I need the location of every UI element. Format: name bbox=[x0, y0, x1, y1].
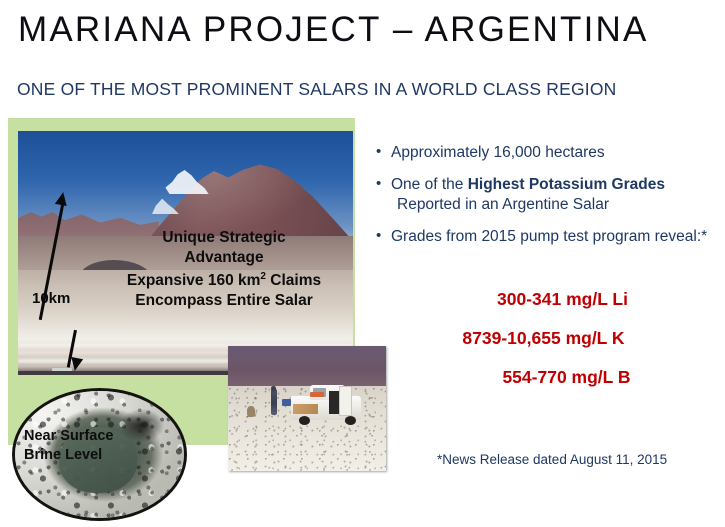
truck-front-wheel bbox=[299, 416, 310, 425]
background-hills bbox=[228, 346, 386, 389]
scale-arrow-annotation bbox=[38, 192, 94, 367]
brine-caption-line-2: Brine Level bbox=[24, 446, 154, 465]
grade-value-boron: 554-770 mg/L B bbox=[376, 366, 711, 388]
brine-pit-caption: Near Surface Brine Level bbox=[24, 427, 154, 465]
page-title: MARIANA PROJECT – ARGENTINA bbox=[18, 8, 649, 52]
grade-value-lithium: 300-341 mg/L Li bbox=[376, 288, 711, 310]
caption-line-2: Advantage bbox=[108, 248, 340, 268]
dog-figure bbox=[247, 406, 255, 417]
caption-line-4: Encompass Entire Salar bbox=[108, 291, 340, 311]
page-subtitle: ONE OF THE MOST PROMINENT SALARS IN A WO… bbox=[17, 78, 617, 100]
footnote-news-release: *News Release dated August 11, 2015 bbox=[437, 452, 667, 467]
bullet-text: Grades from 2015 pump test program revea… bbox=[391, 228, 707, 245]
person-head bbox=[271, 386, 276, 391]
photo-overlay-caption: Unique Strategic Advantage Expansive 160… bbox=[108, 228, 340, 310]
bullet-item-potassium-grades: One of the Highest Potassium Grades Repo… bbox=[376, 175, 721, 216]
arrow-head-down-icon bbox=[69, 357, 83, 372]
brine-caption-line-1: Near Surface bbox=[24, 427, 154, 446]
bullet-text-emphasis: Highest Potassium Grades bbox=[468, 176, 665, 193]
truck-open-door bbox=[339, 386, 352, 416]
truck-side-marking bbox=[293, 404, 318, 414]
orange-cargo bbox=[310, 392, 324, 396]
slide-canvas: MARIANA PROJECT – ARGENTINA ONE OF THE M… bbox=[0, 0, 725, 527]
bullet-text-prefix: One of the bbox=[391, 176, 468, 193]
bullet-item-pump-test: Grades from 2015 pump test program revea… bbox=[376, 227, 721, 248]
caption-line-3-pre: Expansive 160 km bbox=[127, 272, 261, 289]
scale-distance-label: 10km bbox=[32, 290, 70, 307]
caption-line-3: Expansive 160 km2 Claims bbox=[108, 267, 340, 291]
person-figure bbox=[271, 389, 277, 415]
field-crew-truck-photo bbox=[228, 346, 386, 471]
caption-line-3-post: Claims bbox=[266, 272, 321, 289]
blue-cargo-box bbox=[282, 399, 291, 407]
bullet-item-hectares: Approximately 16,000 hectares bbox=[376, 143, 721, 164]
grade-values-group: 300-341 mg/L Li 8739-10,655 mg/L K 554-7… bbox=[376, 288, 711, 405]
caption-line-1: Unique Strategic bbox=[108, 228, 340, 248]
grade-value-potassium: 8739-10,655 mg/L K bbox=[376, 327, 711, 349]
bullet-text-continuation: Reported in an Argentine Salar bbox=[391, 195, 721, 216]
bullet-list: Approximately 16,000 hectares One of the… bbox=[376, 143, 721, 258]
bullet-text: Approximately 16,000 hectares bbox=[391, 144, 605, 161]
truck-rear-wheel bbox=[345, 416, 356, 425]
